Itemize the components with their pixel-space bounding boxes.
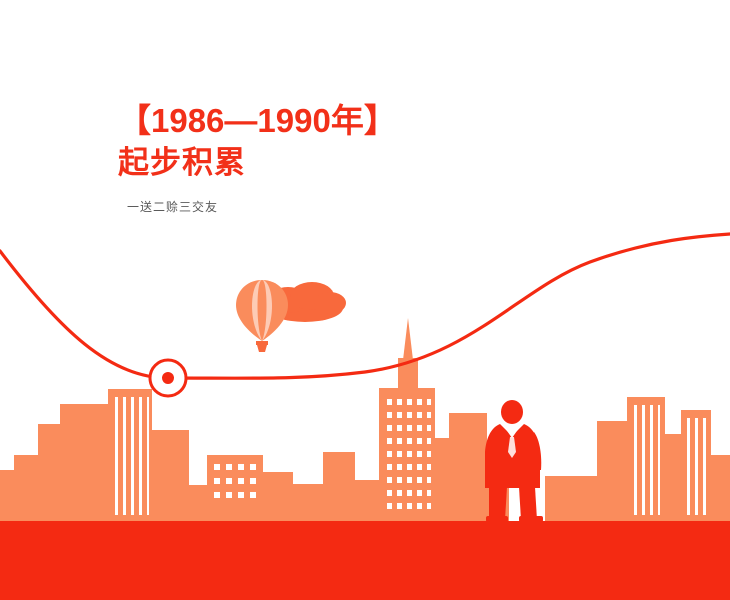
timeline-curve [0, 0, 730, 600]
slide-canvas: 【1986—1990年】 起步积累 一送二赊三交友 [0, 0, 730, 600]
timeline-marker-circle [150, 360, 186, 396]
page-title-line1: 【1986—1990年】 [118, 100, 397, 142]
page-title-line2: 起步积累 [118, 142, 397, 184]
page-subtitle: 一送二赊三交友 [127, 198, 397, 215]
title-block: 【1986—1990年】 起步积累 一送二赊三交友 [118, 100, 397, 215]
